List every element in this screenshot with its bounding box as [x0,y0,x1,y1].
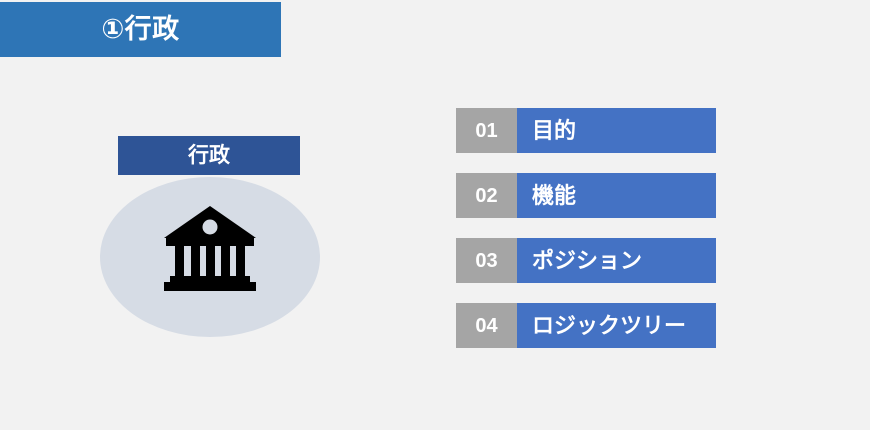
entity-label-text: 行政 [188,145,230,166]
agenda-label-03: ポジション [532,250,642,272]
agenda-body-03: ポジション [517,238,716,283]
government-building-icon [162,204,258,294]
agenda-number-04: 04 [456,303,517,348]
agenda-number-01: 01 [456,108,517,153]
entity-label-box: 行政 [118,136,300,175]
agenda-label-02: 機能 [532,185,576,207]
agenda-body-02: 機能 [517,173,716,218]
page-title: ①行政 [101,16,179,43]
agenda-number-02: 02 [456,173,517,218]
agenda-number-03: 03 [456,238,517,283]
agenda-body-04: ロジックツリー [517,303,716,348]
agenda-item-01[interactable]: 01 目的 [456,108,716,153]
agenda-item-04[interactable]: 04 ロジックツリー [456,303,716,348]
agenda-label-04: ロジックツリー [532,315,686,337]
agenda-item-02[interactable]: 02 機能 [456,173,716,218]
agenda-list: 01 目的 02 機能 03 ポジション 04 ロジックツリー [456,108,716,348]
agenda-body-01: 目的 [517,108,716,153]
agenda-item-03[interactable]: 03 ポジション [456,238,716,283]
entity-panel: 行政 [100,136,320,346]
agenda-label-01: 目的 [532,120,576,142]
header-banner: ①行政 [0,2,281,57]
